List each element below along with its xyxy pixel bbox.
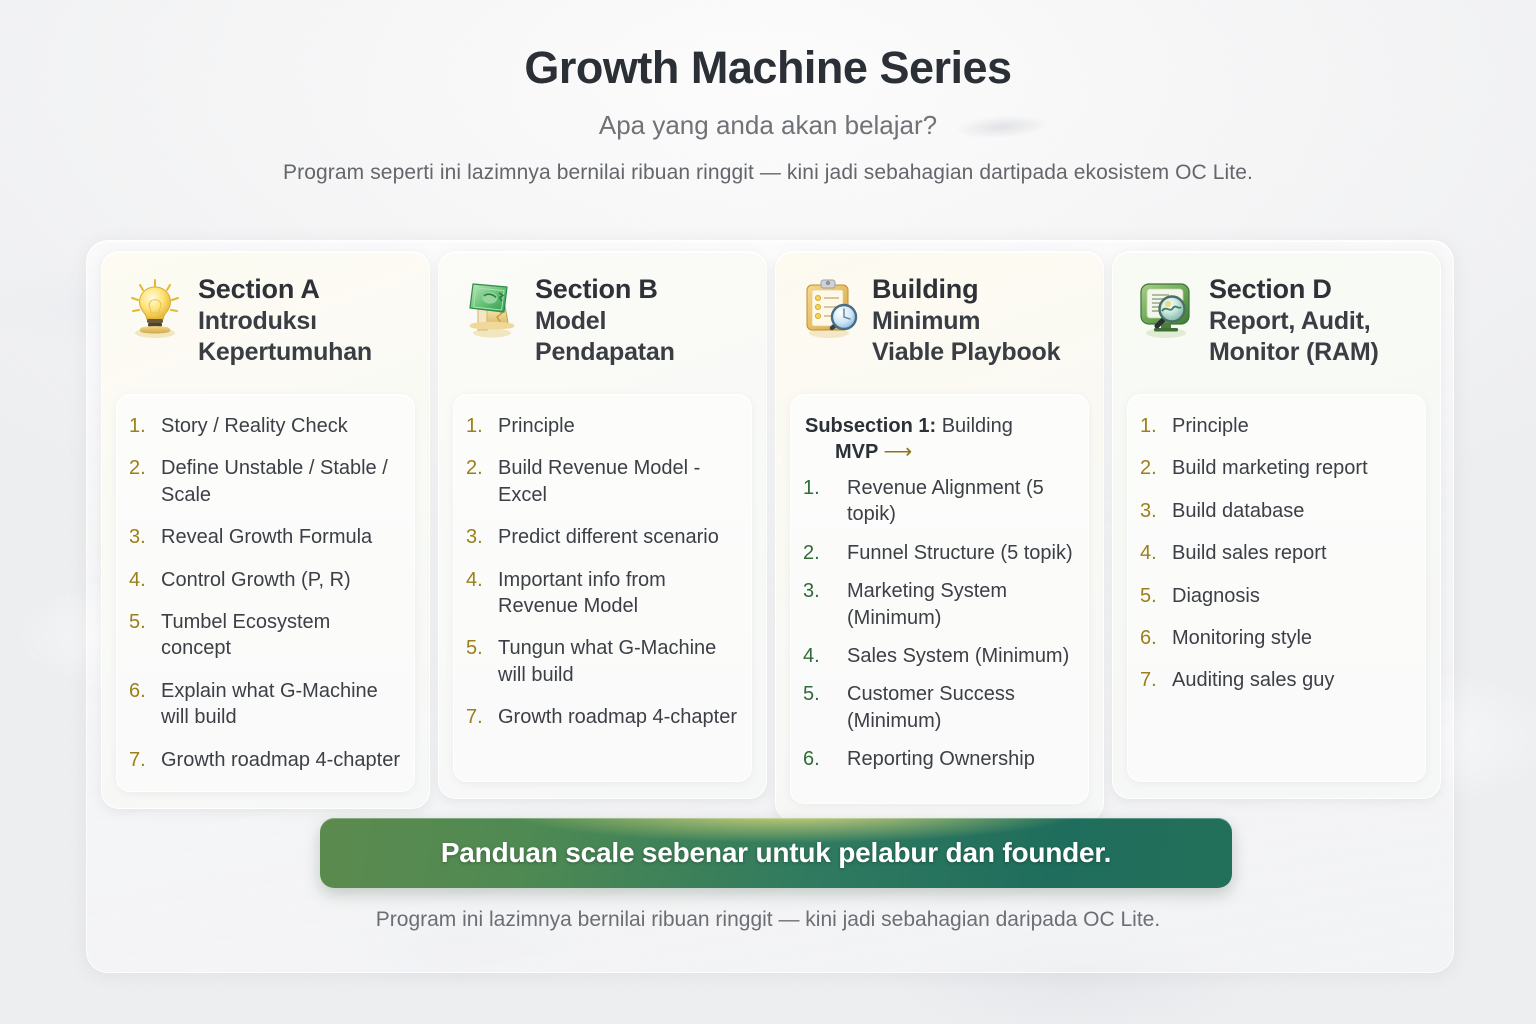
list-item[interactable]: 5.Customer Success (Minimum): [803, 681, 1074, 734]
item-number: 4.: [466, 567, 488, 620]
list-item[interactable]: 5.Diagnosis: [1140, 583, 1411, 609]
item-number: 2.: [466, 455, 488, 508]
list-item[interactable]: 2.Build marketing report: [1140, 455, 1411, 481]
list-item[interactable]: 4.Control Growth (P, R): [129, 567, 400, 593]
item-text: Build sales report: [1172, 540, 1411, 566]
item-text: Build database: [1172, 498, 1411, 524]
cta-banner-text: Panduan scale sebenar untuk pelabur dan …: [441, 837, 1111, 869]
card-header-d: Section D Report, Audit, Monitor (RAM): [1127, 266, 1426, 394]
item-text: Define Unstable / Stable / Scale: [161, 455, 400, 508]
card-title-d: Section D: [1209, 274, 1379, 305]
item-text: Funnel Structure (5 topik): [847, 540, 1074, 566]
card-subtitle-d-line1: Report, Audit,: [1209, 306, 1379, 336]
list-item[interactable]: 3.Reveal Growth Formula: [129, 524, 400, 550]
clipboard-magnifier-icon: [796, 276, 862, 342]
list-item[interactable]: 3.Marketing System (Minimum): [803, 578, 1074, 631]
subsection-rest: Building: [936, 415, 1013, 437]
list-item[interactable]: 4.Sales System (Minimum): [803, 643, 1074, 669]
card-subtitle-d-line2: Monitor (RAM): [1209, 337, 1379, 367]
item-number: 1.: [466, 413, 488, 439]
item-text: Reveal Growth Formula: [161, 524, 400, 550]
item-number: 7.: [1140, 667, 1162, 693]
item-text: Control Growth (P, R): [161, 567, 400, 593]
list-item[interactable]: 3.Build database: [1140, 498, 1411, 524]
item-number: 5.: [466, 635, 488, 688]
list-item[interactable]: 2.Define Unstable / Stable / Scale: [129, 455, 400, 508]
item-number: 5.: [1140, 583, 1162, 609]
section-card-row: Section A Introduksı Kepertumuhan 1.Stor…: [101, 251, 1441, 821]
item-text: Important info from Revenue Model: [498, 567, 737, 620]
item-text: Customer Success (Minimum): [847, 681, 1074, 734]
list-item[interactable]: 7.Growth roadmap 4-chapter: [129, 747, 400, 773]
section-card-a[interactable]: Section A Introduksı Kepertumuhan 1.Stor…: [101, 251, 430, 809]
section-card-b[interactable]: Section B Model Pendapatan 1.Principle 2…: [438, 251, 767, 799]
list-item[interactable]: 6.Reporting Ownership: [803, 746, 1074, 772]
item-number: 6.: [803, 746, 837, 772]
money-flag-icon: [459, 276, 525, 342]
item-number: 5.: [129, 609, 151, 662]
item-text: Growth roadmap 4-chapter: [161, 747, 400, 773]
card-titles-d: Section D Report, Audit, Monitor (RAM): [1209, 272, 1379, 367]
item-text: Build Revenue Model - Excel: [498, 455, 737, 508]
card-titles-a: Section A Introduksı Kepertumuhan: [198, 272, 372, 367]
page-lede: Program seperti ini lazimnya bernilai ri…: [0, 161, 1536, 185]
subsection-label: Subsection 1:: [805, 415, 936, 437]
list-item[interactable]: 1.Principle: [1140, 413, 1411, 439]
subsection-header: Subsection 1: Building MVP ⟶: [803, 413, 1074, 465]
card-header-c: Building Minimum Viable Playbook: [790, 266, 1089, 394]
card-titles-b: Section B Model Pendapatan: [535, 272, 675, 367]
item-text: Auditing sales guy: [1172, 667, 1411, 693]
page-subtitle: Apa yang anda akan belajar?: [599, 110, 937, 141]
list-item[interactable]: 6.Explain what G-Machine will build: [129, 678, 400, 731]
card-subtitle-a-line1: Introduksı: [198, 306, 372, 336]
list-item[interactable]: 7.Auditing sales guy: [1140, 667, 1411, 693]
list-item[interactable]: 2.Build Revenue Model - Excel: [466, 455, 737, 508]
item-number: 1.: [803, 475, 837, 528]
card-subtitle-b-line2: Pendapatan: [535, 337, 675, 367]
list-item[interactable]: 4.Build sales report: [1140, 540, 1411, 566]
item-number: 3.: [803, 578, 837, 631]
item-number: 4.: [1140, 540, 1162, 566]
item-number: 7.: [129, 747, 151, 773]
item-number: 4.: [129, 567, 151, 593]
section-card-d[interactable]: Section D Report, Audit, Monitor (RAM) 1…: [1112, 251, 1441, 799]
section-card-c[interactable]: Building Minimum Viable Playbook Subsect…: [775, 251, 1104, 821]
item-number: 7.: [466, 704, 488, 730]
page-subtitle-text: Apa yang anda akan belajar?: [599, 110, 937, 140]
header: Growth Machine Series Apa yang anda akan…: [0, 0, 1536, 185]
item-number: 2.: [803, 540, 837, 566]
item-number: 5.: [803, 681, 837, 734]
item-number: 3.: [129, 524, 151, 550]
list-panel-c: Subsection 1: Building MVP ⟶ 1.Revenue A…: [790, 394, 1089, 804]
list-item[interactable]: 3.Predict different scenario: [466, 524, 737, 550]
card-subtitle-b-line1: Model: [535, 306, 675, 336]
card-subtitle-a-line2: Kepertumuhan: [198, 337, 372, 367]
item-text: Tungun what G-Machine will build: [498, 635, 737, 688]
item-text: Diagnosis: [1172, 583, 1411, 609]
card-header-a: Section A Introduksı Kepertumuhan: [116, 266, 415, 394]
item-number: 3.: [466, 524, 488, 550]
item-number: 6.: [129, 678, 151, 731]
card-title-c: Building: [872, 274, 1060, 305]
item-text: Principle: [498, 413, 737, 439]
list-item[interactable]: 1.Revenue Alignment (5 topik): [803, 475, 1074, 528]
subsection-mvp: MVP: [835, 441, 878, 463]
card-header-b: Section B Model Pendapatan: [453, 266, 752, 394]
list-item[interactable]: 5.Tumbel Ecosystem concept: [129, 609, 400, 662]
card-subtitle-c-line1: Minimum: [872, 306, 1060, 336]
item-list-a: 1.Story / Reality Check 2.Define Unstabl…: [129, 413, 400, 773]
list-item[interactable]: 4.Important info from Revenue Model: [466, 567, 737, 620]
item-text: Reporting Ownership: [847, 746, 1074, 772]
arrow-right-icon: ⟶: [884, 441, 913, 463]
list-panel-a: 1.Story / Reality Check 2.Define Unstabl…: [116, 394, 415, 792]
footnote: Program ini lazimnya bernilai ribuan rin…: [0, 908, 1536, 932]
card-title-a: Section A: [198, 274, 372, 305]
item-text: Monitoring style: [1172, 625, 1411, 651]
card-titles-c: Building Minimum Viable Playbook: [872, 272, 1060, 367]
subsection-line2: MVP ⟶: [805, 439, 1074, 465]
item-list-b: 1.Principle 2.Build Revenue Model - Exce…: [466, 413, 737, 731]
page-title: Growth Machine Series: [0, 42, 1536, 94]
item-number: 3.: [1140, 498, 1162, 524]
item-text: Revenue Alignment (5 topik): [847, 475, 1074, 528]
list-item[interactable]: 5.Tungun what G-Machine will build: [466, 635, 737, 688]
item-text: Tumbel Ecosystem concept: [161, 609, 400, 662]
item-text: Build marketing report: [1172, 455, 1411, 481]
item-text: Story / Reality Check: [161, 413, 400, 439]
item-number: 6.: [1140, 625, 1162, 651]
item-text: Explain what G-Machine will build: [161, 678, 400, 731]
poster-root: Growth Machine Series Apa yang anda akan…: [0, 0, 1536, 1024]
item-text: Sales System (Minimum): [847, 643, 1074, 669]
item-text: Principle: [1172, 413, 1411, 439]
list-item[interactable]: 2.Funnel Structure (5 topik): [803, 540, 1074, 566]
item-text: Predict different scenario: [498, 524, 737, 550]
item-number: 1.: [1140, 413, 1162, 439]
list-panel-b: 1.Principle 2.Build Revenue Model - Exce…: [453, 394, 752, 782]
lightbulb-icon: [122, 276, 188, 342]
item-list-c: 1.Revenue Alignment (5 topik) 2.Funnel S…: [803, 475, 1074, 773]
item-text: Growth roadmap 4-chapter: [498, 704, 737, 730]
card-subtitle-c-line2: Viable Playbook: [872, 337, 1060, 367]
list-item[interactable]: 1.Story / Reality Check: [129, 413, 400, 439]
item-number: 4.: [803, 643, 837, 669]
item-text: Marketing System (Minimum): [847, 578, 1074, 631]
cta-banner[interactable]: Panduan scale sebenar untuk pelabur dan …: [320, 818, 1232, 888]
item-number: 1.: [129, 413, 151, 439]
card-title-b: Section B: [535, 274, 675, 305]
list-panel-d: 1.Principle 2.Build marketing report 3.B…: [1127, 394, 1426, 782]
monitor-magnifier-icon: [1133, 276, 1199, 342]
list-item[interactable]: 1.Principle: [466, 413, 737, 439]
item-number: 2.: [1140, 455, 1162, 481]
list-item[interactable]: 7.Growth roadmap 4-chapter: [466, 704, 737, 730]
smudge-decoration: [954, 113, 1049, 142]
list-item[interactable]: 6.Monitoring style: [1140, 625, 1411, 651]
item-list-d: 1.Principle 2.Build marketing report 3.B…: [1140, 413, 1411, 694]
item-number: 2.: [129, 455, 151, 508]
